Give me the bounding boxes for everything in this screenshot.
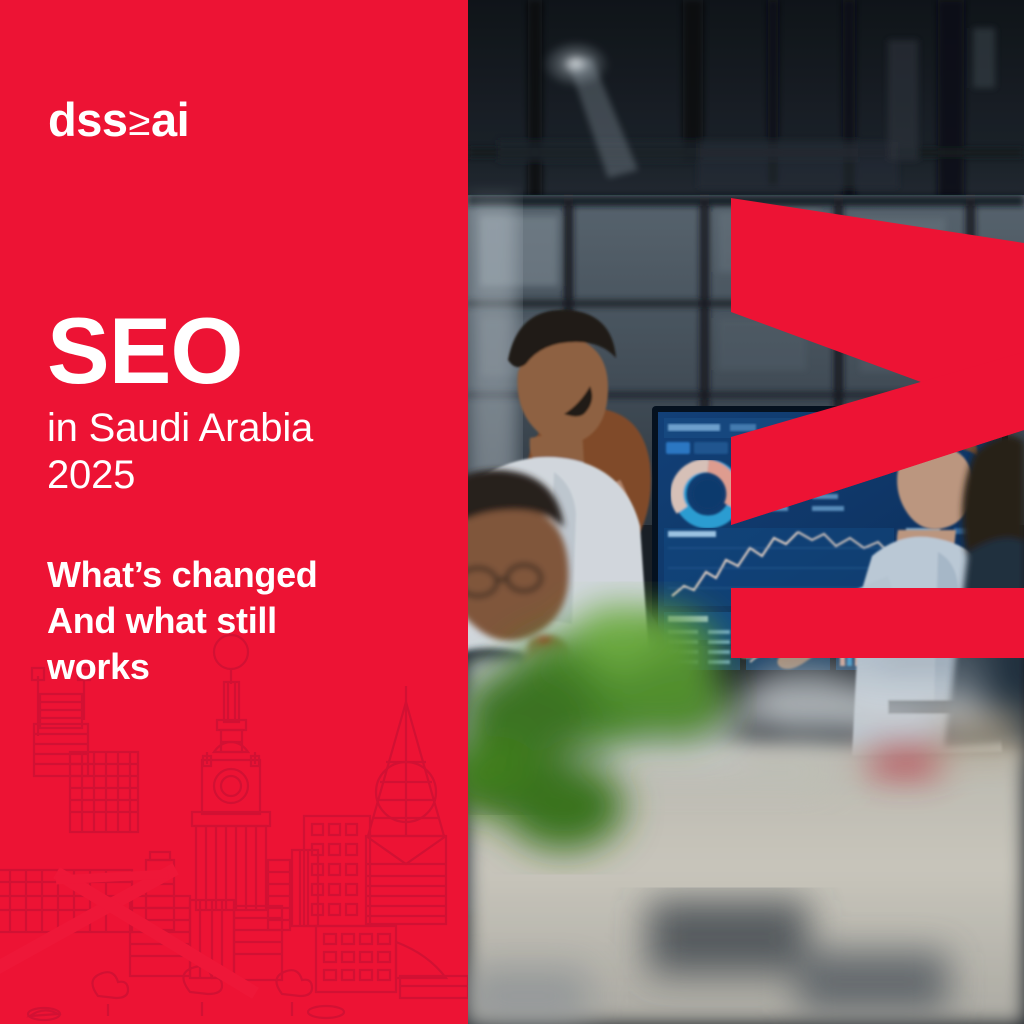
office-photo bbox=[468, 0, 1024, 1024]
headline-line-2: in Saudi Arabia bbox=[47, 405, 447, 452]
logo-text-right: ai bbox=[151, 96, 189, 143]
subheadline-block: What’s changed And what still works bbox=[47, 552, 442, 690]
headline-line-3: 2025 bbox=[47, 452, 447, 499]
subheadline-line-2: And what still bbox=[47, 598, 442, 644]
brand-logo[interactable]: dss≥ai bbox=[48, 96, 189, 143]
subheadline-line-1: What’s changed bbox=[47, 552, 442, 598]
headline-subtitle: in Saudi Arabia 2025 bbox=[47, 405, 447, 499]
logo-text-left: dss bbox=[48, 96, 128, 143]
subheadline-line-3: works bbox=[47, 644, 442, 690]
left-red-panel: dss≥ai SEO in Saudi Arabia 2025 What’s c… bbox=[0, 0, 468, 1024]
poster-canvas: dss≥ai SEO in Saudi Arabia 2025 What’s c… bbox=[0, 0, 1024, 1024]
headline-block: SEO in Saudi Arabia 2025 bbox=[47, 305, 447, 499]
greater-than-or-equal-icon: ≥ bbox=[128, 102, 151, 142]
page-title: SEO bbox=[47, 305, 447, 397]
